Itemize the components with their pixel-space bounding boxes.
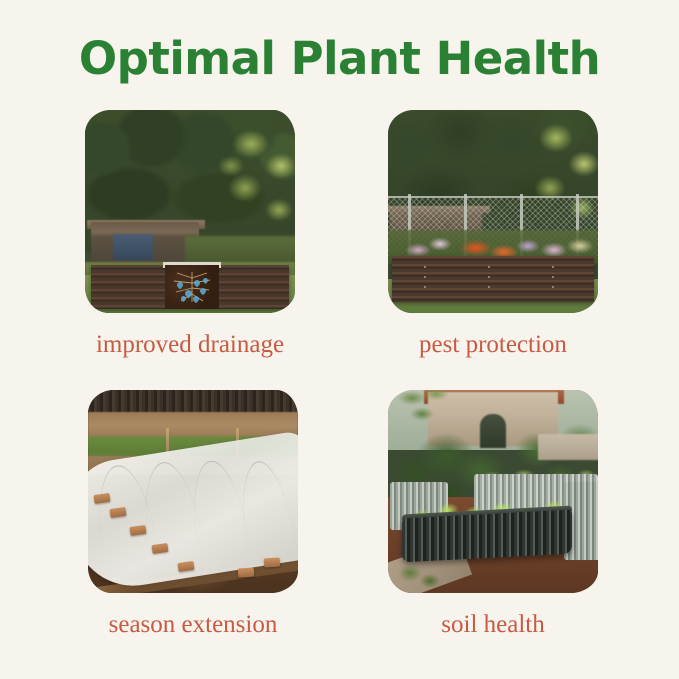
photo-improved-drainage <box>85 110 295 313</box>
benefit-card-improved-drainage[interactable]: improved drainage <box>85 110 295 359</box>
bed-bolt <box>552 276 554 278</box>
photo-pest-protection <box>388 110 598 313</box>
main-raised-bed <box>402 510 572 563</box>
bed-bolt <box>424 286 426 288</box>
bed-bolt <box>488 266 490 268</box>
bed-bolt <box>552 266 554 268</box>
caption-season-extension: season extension <box>74 611 312 639</box>
anchor-brick <box>264 557 281 567</box>
benefit-card-soil-health[interactable]: soil health <box>388 390 598 639</box>
benefit-card-season-extension[interactable]: season extension <box>88 390 298 639</box>
plant-root-system <box>169 270 215 304</box>
sunlit-tree <box>215 118 295 238</box>
benefits-grid: improved drainage <box>85 110 595 655</box>
bed-bolt <box>424 266 426 268</box>
benefit-card-pest-protection[interactable]: pest protection <box>388 110 598 359</box>
raised-bed-corrugation <box>392 256 594 302</box>
bed-bolt <box>488 286 490 288</box>
photo-season-extension <box>88 390 298 593</box>
garden-wall <box>538 434 598 460</box>
infographic-root: Optimal Plant Health <box>0 0 679 679</box>
bed-bolt <box>488 276 490 278</box>
building-window <box>113 234 153 260</box>
wooden-fence <box>88 390 298 414</box>
page-title: Optimal Plant Health <box>0 36 679 81</box>
foreground-plant <box>392 557 446 593</box>
bed-bolt <box>552 286 554 288</box>
bed-bolt <box>424 276 426 278</box>
anchor-brick <box>238 567 255 577</box>
caption-soil-health: soil health <box>388 611 598 639</box>
photo-soil-health <box>388 390 598 593</box>
caption-improved-drainage: improved drainage <box>85 331 295 359</box>
caption-pest-protection: pest protection <box>388 331 598 359</box>
